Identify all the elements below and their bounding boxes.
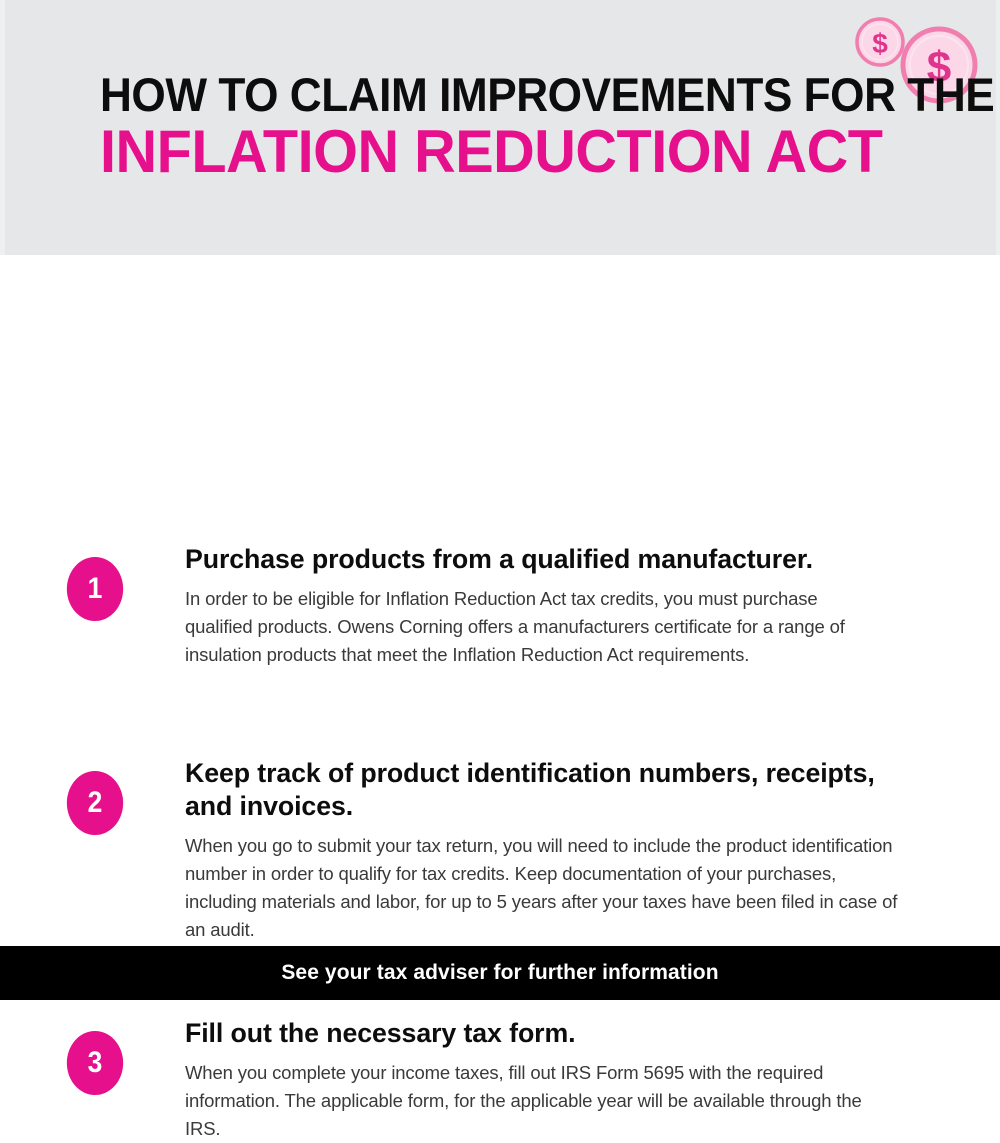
step-item-3: 3 Fill out the necessary tax form. When … [0, 1017, 1000, 1143]
step-number-badge-3: 3 [66, 1031, 122, 1095]
steps-list: 1 Purchase products from a qualified man… [0, 255, 1000, 1000]
step-body-3: Fill out the necessary tax form. When yo… [185, 1017, 1000, 1143]
step-heading-1: Purchase products from a qualified manuf… [185, 543, 883, 576]
step-text-3: When you complete your income taxes, fil… [185, 1059, 870, 1143]
footer-bar: See your tax adviser for further informa… [0, 946, 1000, 1000]
header-right-edge [996, 0, 1000, 255]
page-title: HOW TO CLAIM IMPROVEMENTS FOR THE INFLAT… [100, 72, 900, 181]
title-line-primary: HOW TO CLAIM IMPROVEMENTS FOR THE [100, 72, 852, 117]
step-heading-2: Keep track of product identification num… [185, 757, 893, 823]
step-heading-3: Fill out the necessary tax form. [185, 1017, 863, 1050]
step-number-badge-1: 1 [66, 557, 122, 621]
step-number-badge-2: 2 [66, 771, 122, 835]
header-left-edge [0, 0, 5, 255]
step-text-2: When you go to submit your tax return, y… [185, 832, 900, 944]
step-badge-column-3: 3 [0, 1017, 185, 1095]
step-item-2: 2 Keep track of product identification n… [0, 757, 1000, 944]
footer-text: See your tax adviser for further informa… [281, 961, 718, 985]
svg-text:$: $ [872, 28, 888, 59]
title-line-accent: INFLATION REDUCTION ACT [100, 123, 868, 181]
step-badge-column-1: 1 [0, 543, 185, 621]
infographic-root: $ $ HOW TO CLAIM IMPROVEMENTS FOR THE IN… [0, 0, 1000, 1000]
step-text-1: In order to be eligible for Inflation Re… [185, 585, 890, 669]
step-body-1: Purchase products from a qualified manuf… [185, 543, 1000, 669]
step-item-1: 1 Purchase products from a qualified man… [0, 543, 1000, 669]
header-banner: $ $ HOW TO CLAIM IMPROVEMENTS FOR THE IN… [0, 0, 1000, 255]
step-badge-column-2: 2 [0, 757, 185, 835]
step-body-2: Keep track of product identification num… [185, 757, 1000, 944]
